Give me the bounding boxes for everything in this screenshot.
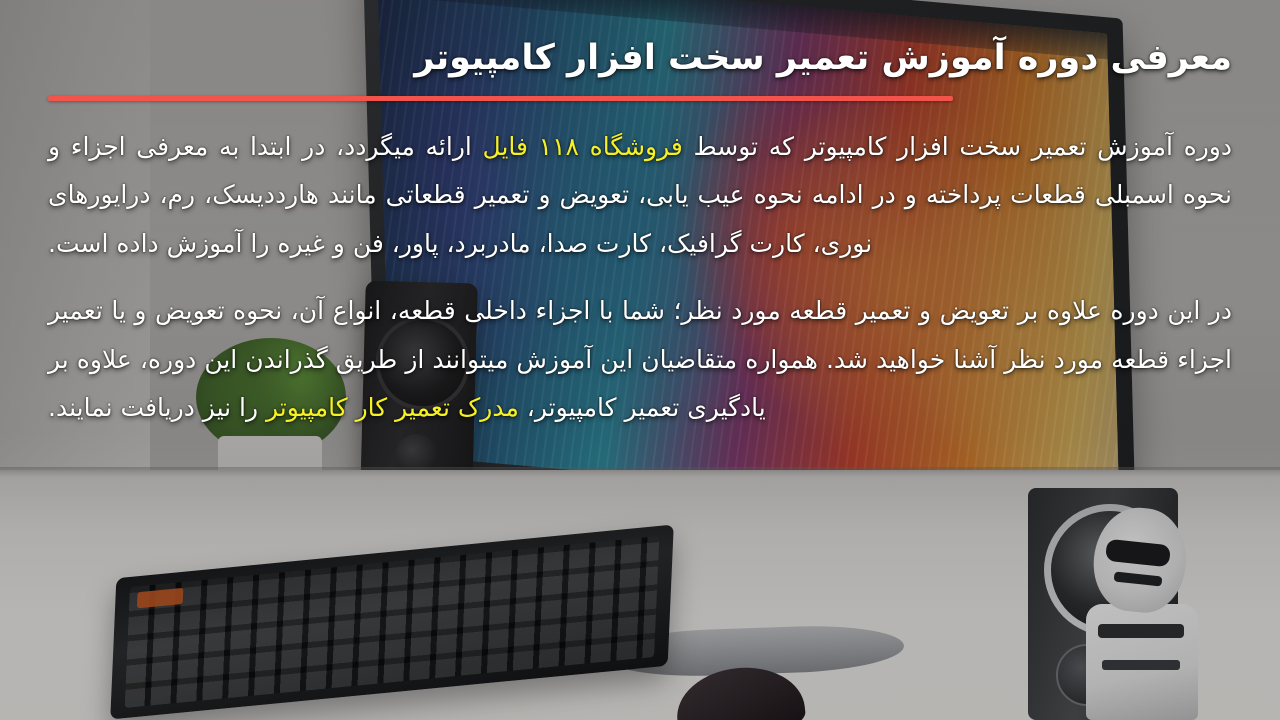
slide-content: معرفی دوره آموزش تعمیر سخت افزار کامپیوت… xyxy=(0,0,1280,720)
paragraph-intro: دوره آموزش تعمیر سخت افزار کامپیوتر که ت… xyxy=(48,123,1232,269)
title-underline-rule xyxy=(48,96,953,101)
certificate-name-highlight: مدرک تعمیر کار کامپیوتر xyxy=(266,393,519,422)
paragraph-details-run-2: را نیز دریافت نمایند. xyxy=(48,393,266,422)
paragraph-details: در این دوره علاوه بر تعویض و تعمیر قطعه … xyxy=(48,287,1232,433)
shop-name-highlight: فروشگاه ۱۱۸ فایل xyxy=(483,132,683,161)
slide-canvas: معرفی دوره آموزش تعمیر سخت افزار کامپیوت… xyxy=(0,0,1280,720)
paragraph-intro-run-0: دوره آموزش تعمیر سخت افزار کامپیوتر که ت… xyxy=(683,132,1232,161)
page-title: معرفی دوره آموزش تعمیر سخت افزار کامپیوت… xyxy=(48,34,1232,84)
